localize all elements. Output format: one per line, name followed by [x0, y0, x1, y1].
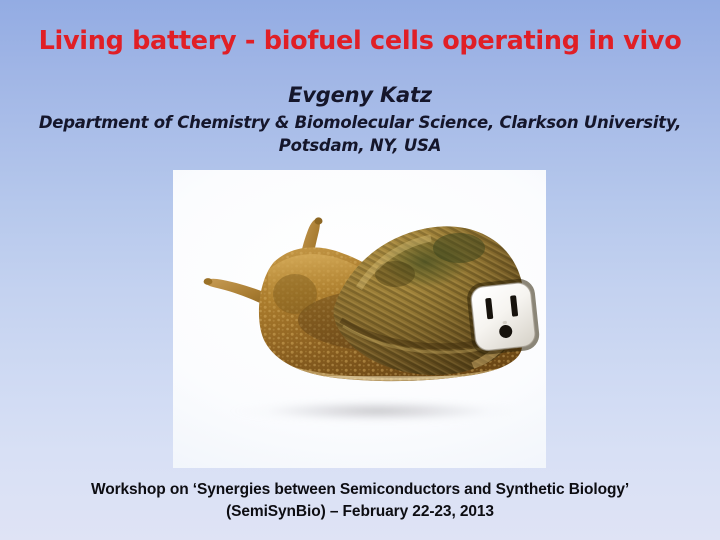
slide-title: Living battery - biofuel cells operating… [0, 27, 720, 55]
affiliation-line-1: Department of Chemistry & Biomolecular S… [0, 111, 720, 134]
affiliation-line-2: Potsdam, NY, USA [0, 134, 720, 157]
author-block: Evgeny Katz Department of Chemistry & Bi… [0, 83, 720, 157]
snail-tentacle-left-tip [204, 278, 213, 285]
author-affiliation: Department of Chemistry & Biomolecular S… [0, 111, 720, 158]
electrical-outlet [466, 277, 541, 356]
caption-line-1: Workshop on ‘Synergies between Semicondu… [0, 479, 720, 501]
author-name: Evgeny Katz [0, 83, 720, 109]
workshop-caption: Workshop on ‘Synergies between Semicondu… [0, 479, 720, 524]
presentation-slide: Living battery - biofuel cells operating… [0, 0, 720, 540]
caption-line-2: (SemiSynBio) – February 22-23, 2013 [0, 501, 720, 523]
snail-photo-panel [173, 170, 546, 468]
snail-head-shading [273, 274, 317, 314]
snail-with-outlet-image [173, 170, 546, 468]
outlet-faceplate [470, 282, 536, 352]
snail-tentacle-right-tip [315, 217, 323, 224]
